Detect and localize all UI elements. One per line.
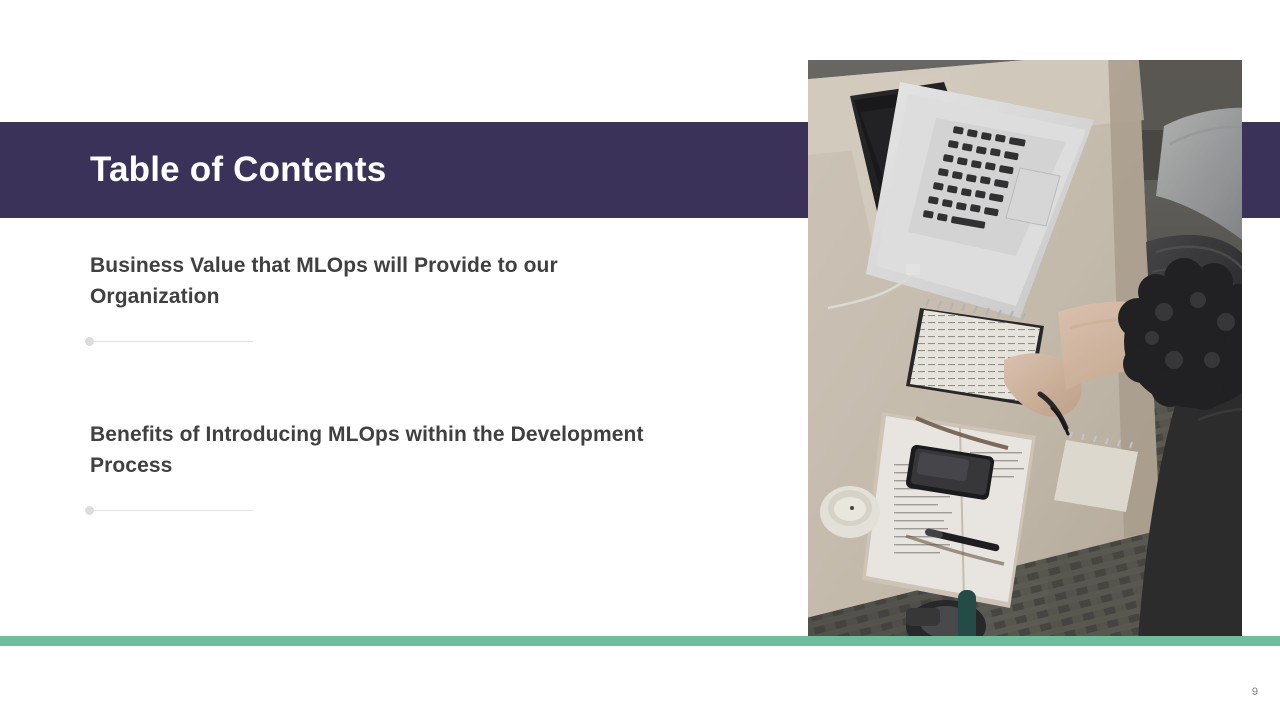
divider-line xyxy=(90,341,253,342)
divider-line xyxy=(90,510,253,511)
toc-item-2[interactable]: Benefits of Introducing MLOps within the… xyxy=(0,419,760,516)
hero-photo xyxy=(808,60,1242,640)
bottom-accent-bar xyxy=(0,636,1280,646)
toc-item-1-divider xyxy=(85,337,253,347)
toc-item-2-divider xyxy=(85,506,253,516)
toc-item-1[interactable]: Business Value that MLOps will Provide t… xyxy=(0,250,760,347)
slide: Table of Contents xyxy=(0,0,1280,720)
page-number: 9 xyxy=(1252,685,1258,699)
toc-item-2-label: Benefits of Introducing MLOps within the… xyxy=(90,419,650,481)
page-title: Table of Contents xyxy=(90,145,386,195)
table-of-contents-list: Business Value that MLOps will Provide t… xyxy=(0,250,760,516)
toc-item-1-label: Business Value that MLOps will Provide t… xyxy=(90,250,650,312)
hero-photo-illustration xyxy=(808,60,1242,640)
divider-dot-icon xyxy=(85,337,94,346)
divider-dot-icon xyxy=(85,506,94,515)
